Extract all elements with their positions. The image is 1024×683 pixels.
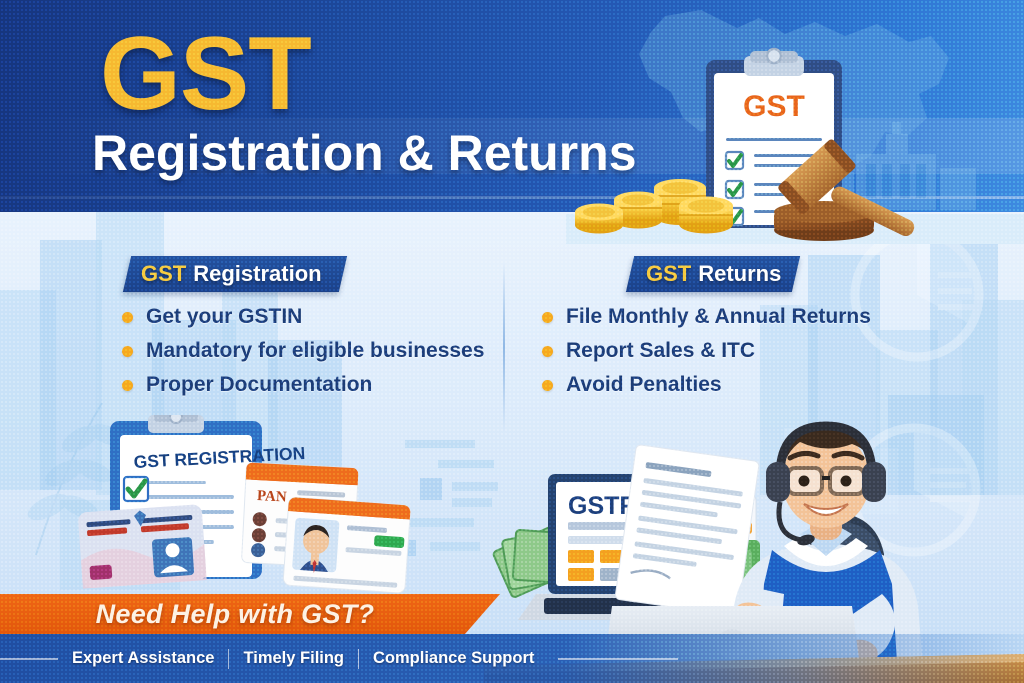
doc-line-decoration (430, 542, 480, 551)
list-item-label: Mandatory for eligible businesses (146, 339, 484, 363)
list-item-label: Proper Documentation (146, 373, 372, 397)
list-item: Avoid Penalties (542, 368, 871, 402)
page-title-main: GST (100, 22, 311, 126)
photo-id-card (283, 497, 411, 593)
help-ribbon-label: Need Help with GST? (0, 594, 470, 634)
identity-card (78, 504, 207, 588)
poster-canvas: GST Registration & Returns GST (0, 0, 1024, 683)
page-title-sub: Registration & Returns (92, 128, 637, 178)
list-item: Report Sales & ITC (542, 334, 871, 368)
registration-documents-illustration: GST REGISTRATION PAN (44, 415, 414, 600)
returns-bullet-list: File Monthly & Annual Returns Report Sal… (542, 300, 871, 402)
badge-gst-registration-label: GST Registration (141, 256, 357, 292)
bullet-dot-icon (542, 346, 553, 357)
list-item: File Monthly & Annual Returns (542, 300, 871, 334)
list-item-label: File Monthly & Annual Returns (566, 305, 871, 329)
footer-rule-left (0, 658, 58, 660)
badge-highlight: GST (646, 261, 691, 287)
bullet-dot-icon (542, 380, 553, 391)
list-item-label: Avoid Penalties (566, 373, 722, 397)
badge-gst-returns-label: GST Returns (646, 256, 812, 292)
bullet-dot-icon (542, 312, 553, 323)
footer-rule-right (558, 658, 678, 660)
clipboard-gst-label: GST (743, 90, 805, 123)
footer-item-timely-filing[interactable]: Timely Filing (229, 649, 358, 668)
bullet-dot-icon (122, 380, 133, 391)
badge-highlight: GST (141, 261, 186, 287)
column-divider (503, 262, 505, 432)
gst-clipboard-illustration: GST (566, 18, 1024, 244)
pan-card-label: PAN (257, 488, 288, 506)
list-item-label: Get your GSTIN (146, 305, 302, 329)
footer-item-expert-assistance[interactable]: Expert Assistance (58, 649, 228, 668)
list-item-label: Report Sales & ITC (566, 339, 755, 363)
badge-label: Registration (193, 261, 321, 287)
doc-line-decoration (405, 440, 475, 448)
registration-bullet-list: Get your GSTIN Mandatory for eligible bu… (122, 300, 484, 402)
badge-label: Returns (698, 261, 781, 287)
doc-block-decoration (420, 478, 442, 500)
list-item: Get your GSTIN (122, 300, 484, 334)
list-item: Proper Documentation (122, 368, 484, 402)
footer-item-compliance-support[interactable]: Compliance Support (359, 649, 548, 668)
doc-line-decoration (408, 518, 474, 527)
bullet-dot-icon (122, 346, 133, 357)
list-item: Mandatory for eligible businesses (122, 334, 484, 368)
footer-items: Expert Assistance Timely Filing Complian… (0, 634, 740, 683)
bullet-dot-icon (122, 312, 133, 323)
held-document (615, 444, 760, 616)
